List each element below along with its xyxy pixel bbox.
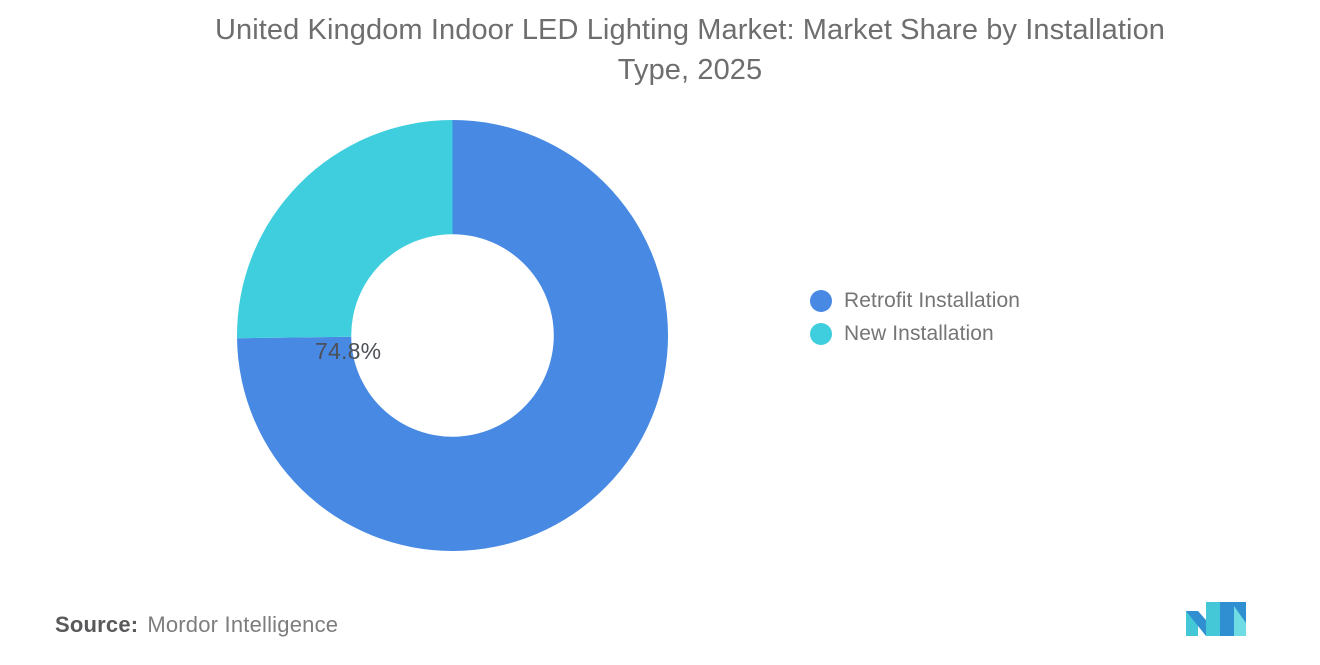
- chart-legend: Retrofit Installation New Installation: [810, 284, 1020, 350]
- source-label: Source:: [55, 612, 138, 638]
- source-attribution: Source: Mordor Intelligence: [55, 612, 338, 638]
- legend-item-new-installation[interactable]: New Installation: [810, 317, 1020, 350]
- chart-canvas: United Kingdom Indoor LED Lighting Marke…: [0, 0, 1320, 665]
- page-title: United Kingdom Indoor LED Lighting Marke…: [160, 10, 1220, 90]
- slice-label-retrofit-installation: 74.8%: [315, 338, 381, 365]
- donut-slice-group: [237, 120, 668, 551]
- legend-swatch-icon-retrofit-installation: [810, 290, 832, 312]
- donut-chart-svg: [237, 120, 668, 551]
- legend-swatch-icon-new-installation: [810, 323, 832, 345]
- donut-slice-new-installation[interactable]: [237, 120, 453, 338]
- legend-item-retrofit-installation[interactable]: Retrofit Installation: [810, 284, 1020, 317]
- legend-label-retrofit-installation: Retrofit Installation: [844, 289, 1020, 313]
- donut-chart: 74.8%: [237, 120, 668, 551]
- source-value: Mordor Intelligence: [147, 612, 338, 638]
- mordor-intelligence-logo-icon: [1184, 597, 1254, 639]
- legend-label-new-installation: New Installation: [844, 322, 994, 346]
